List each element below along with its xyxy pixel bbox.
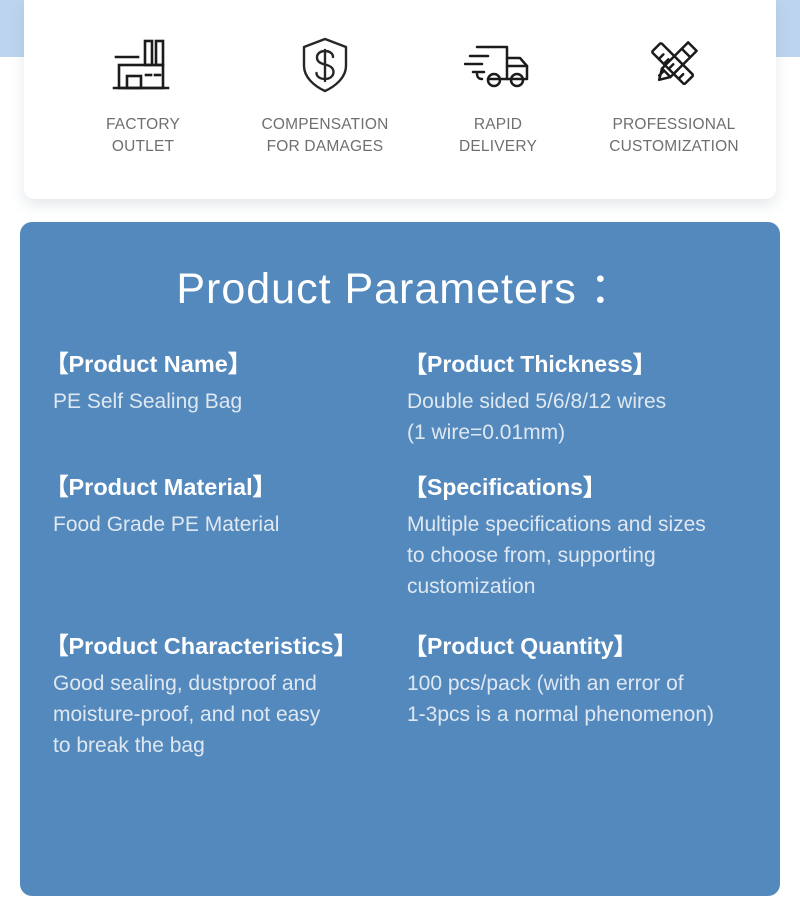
feature-highlights-card: FACTORY OUTLET COMPENSATION FOR DAMAGES [24,0,776,199]
feature-item-factory-outlet: FACTORY OUTLET [68,34,218,158]
param-value: Double sided 5/6/8/12 wires (1 wire=0.01… [404,386,776,448]
param-value: Food Grade PE Material [45,509,388,540]
param-value: 100 pcs/pack (with an error of 1-3pcs is… [404,668,776,730]
param-block-specifications: 【Specifications】 Multiple specifications… [392,473,780,602]
param-title: 【Product Thickness】 [404,350,776,379]
param-value: Good sealing, dustproof and moisture-pro… [45,668,388,761]
page-title: Product Parameters ： [20,222,780,311]
feature-label: FACTORY OUTLET [106,114,180,158]
param-block-product-thickness: 【Product Thickness】 Double sided 5/6/8/1… [392,350,780,448]
param-title: 【Product Characteristics】 [45,632,388,661]
feature-label: RAPID DELIVERY [459,114,537,158]
pencil-ruler-icon [645,34,703,96]
feature-label: COMPENSATION FOR DAMAGES [262,114,389,158]
param-title: 【Product Material】 [45,473,388,502]
param-block-product-characteristics: 【Product Characteristics】 Good sealing, … [20,632,392,762]
feature-item-rapid-delivery: RAPID DELIVERY [424,34,572,158]
delivery-truck-icon [464,34,532,96]
feature-item-compensation-for-damages: COMPENSATION FOR DAMAGES [232,34,418,158]
factory-icon [112,34,174,96]
param-value: PE Self Sealing Bag [45,386,388,417]
param-block-product-quantity: 【Product Quantity】 100 pcs/pack (with an… [392,632,780,762]
param-block-product-name: 【Product Name】 PE Self Sealing Bag [20,350,392,448]
param-value: Multiple specifications and sizes to cho… [404,509,776,602]
shield-dollar-icon [299,34,351,96]
param-block-product-material: 【Product Material】 Food Grade PE Materia… [20,473,392,602]
param-title: 【Specifications】 [404,473,776,502]
product-parameters-panel: Product Parameters ： 【Product Name】 PE S… [20,222,780,896]
param-title: 【Product Quantity】 [404,632,776,661]
param-title: 【Product Name】 [45,350,388,379]
feature-label: PROFESSIONAL CUSTOMIZATION [609,114,738,158]
feature-item-professional-customization: PROFESSIONAL CUSTOMIZATION [576,34,772,158]
parameters-grid: 【Product Name】 PE Self Sealing Bag 【Prod… [20,350,780,762]
